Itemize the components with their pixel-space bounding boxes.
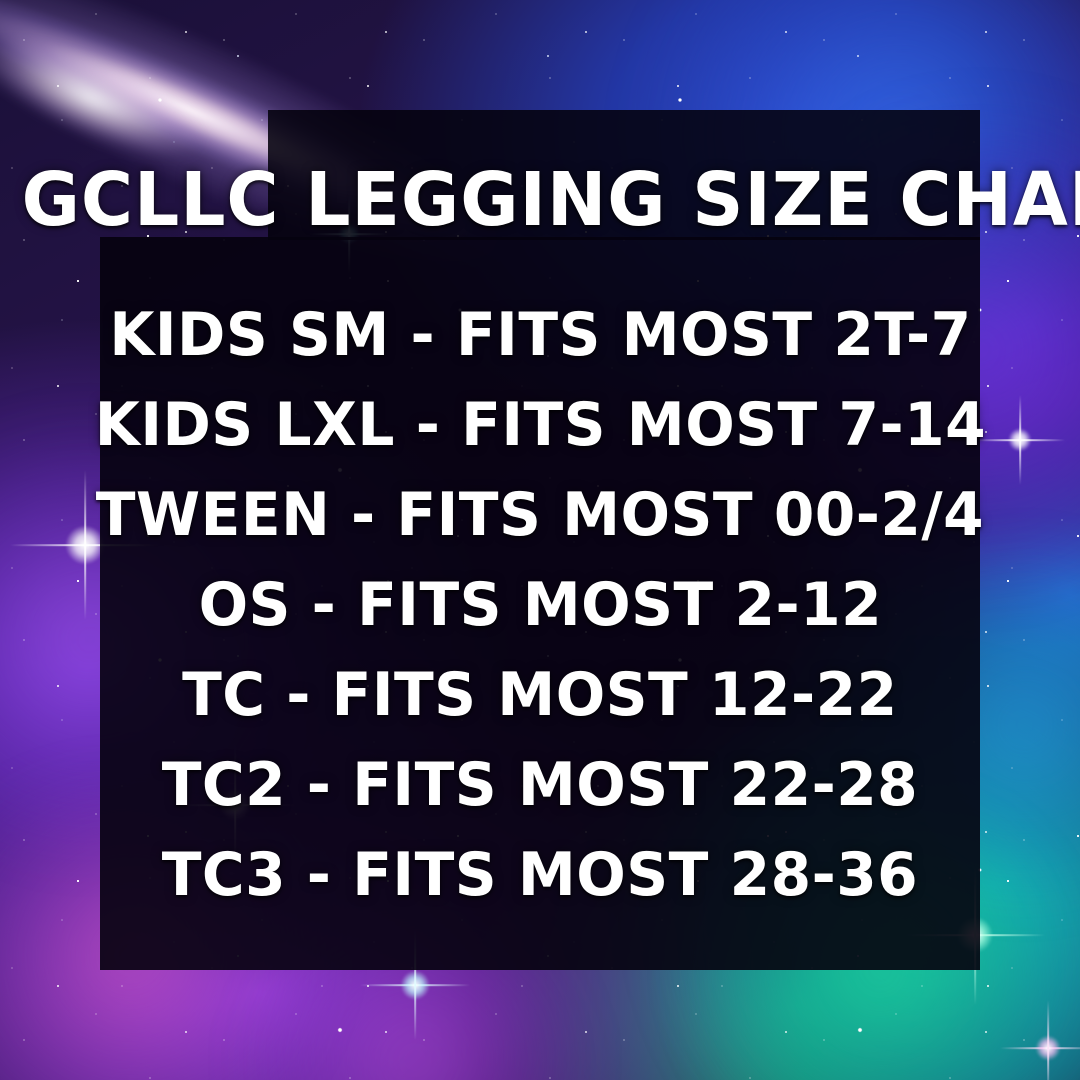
size-chart-row: TWEEN - FITS MOST 00-2/4 bbox=[96, 470, 984, 560]
size-chart-row: TC2 - FITS MOST 22-28 bbox=[162, 740, 918, 830]
size-chart-graphic: GCLLC LEGGING SIZE CHART KIDS SM - FITS … bbox=[0, 0, 1080, 1080]
chart-content: GCLLC LEGGING SIZE CHART KIDS SM - FITS … bbox=[0, 0, 1080, 1080]
size-chart-row: KIDS SM - FITS MOST 2T-7 bbox=[109, 290, 971, 380]
size-chart-row: TC3 - FITS MOST 28-36 bbox=[162, 830, 918, 920]
chart-title: GCLLC LEGGING SIZE CHART bbox=[22, 160, 1059, 240]
size-chart-row: KIDS LXL - FITS MOST 7-14 bbox=[94, 380, 985, 470]
size-chart-row: TC - FITS MOST 12-22 bbox=[182, 650, 897, 740]
size-chart-row: OS - FITS MOST 2-12 bbox=[198, 560, 882, 650]
size-chart-list: KIDS SM - FITS MOST 2T-7 KIDS LXL - FITS… bbox=[0, 290, 1080, 920]
